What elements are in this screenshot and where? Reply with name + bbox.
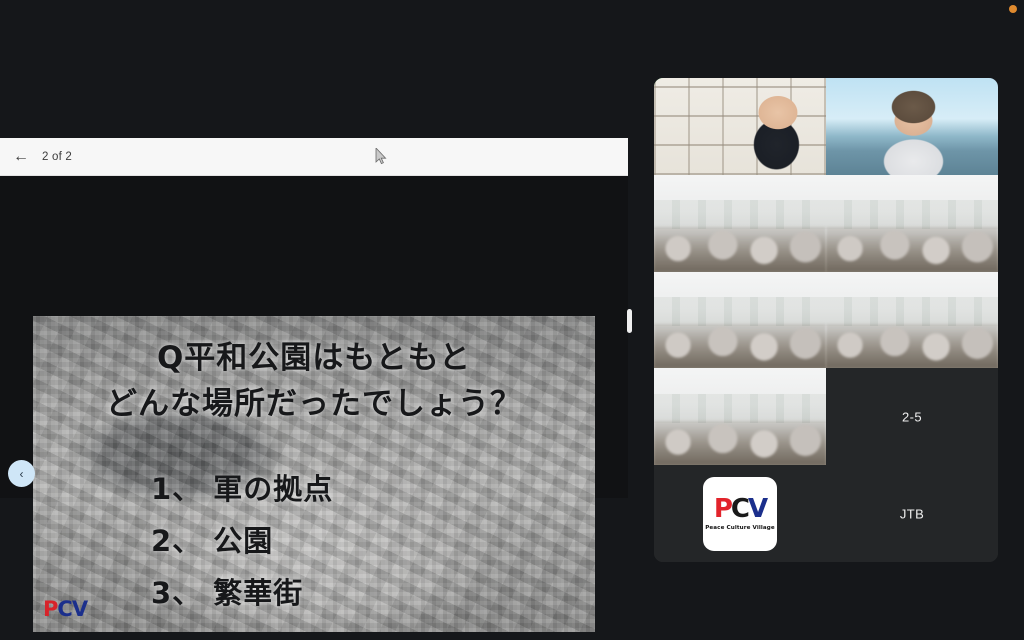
recording-indicator-dot: [1009, 5, 1017, 13]
panel-resize-handle[interactable]: [627, 309, 632, 333]
pcv-logo-letters: PCV: [714, 496, 766, 522]
watermark-letter-p: P: [43, 597, 57, 621]
slide-page-counter: 2 of 2: [42, 151, 72, 163]
slide-option-3: 3、 繁華街: [151, 570, 303, 612]
slide-question-line-1: Q平和公園はもともと: [33, 332, 595, 377]
participant-video-1: [654, 78, 826, 175]
slide-option-1: 1、 軍の拠点: [151, 466, 333, 508]
participant-name-2-5: 2-5: [826, 409, 998, 424]
slide-text-layer: Q平和公園はもともと どんな場所だったでしょう？ 1、 軍の拠点 2、 公園 3…: [33, 316, 595, 632]
meeting-window: ← 2 of 2 Q平和公園はもともと どんな場所だったでしょう？ 1、 軍の拠…: [0, 0, 1024, 640]
slide-option-2: 2、 公園: [151, 518, 273, 560]
participant-video-3: [654, 175, 826, 272]
pcv-letter-v: V: [748, 494, 766, 524]
participant-name-jtb: JTB: [826, 506, 998, 521]
watermark-letter-c: C: [57, 597, 71, 621]
participant-tile-6[interactable]: [826, 272, 998, 369]
participant-tile-8[interactable]: 2-5: [826, 368, 998, 465]
pcv-letter-p: P: [714, 494, 731, 524]
shared-screen-region: ← 2 of 2 Q平和公園はもともと どんな場所だったでしょう？ 1、 軍の拠…: [0, 138, 628, 498]
participant-tile-1[interactable]: [654, 78, 826, 175]
pcv-logo: PCV Peace Culture Village: [703, 477, 777, 551]
participant-video-5: [654, 272, 826, 369]
participant-tile-9[interactable]: PCV Peace Culture Village: [654, 465, 826, 562]
slide-question-line-2: どんな場所だったでしょう？: [33, 378, 595, 423]
pcv-logo-tagline: Peace Culture Village: [705, 525, 775, 531]
participant-tile-4[interactable]: [826, 175, 998, 272]
participant-tile-5[interactable]: [654, 272, 826, 369]
participant-tile-10[interactable]: JTB: [826, 465, 998, 562]
participants-grid: 2-5 PCV Peace Culture Village JTB: [654, 78, 998, 562]
participant-video-6: [826, 272, 998, 369]
participant-tile-7[interactable]: [654, 368, 826, 465]
participant-tile-2[interactable]: [826, 78, 998, 175]
participant-tile-3[interactable]: [654, 175, 826, 272]
previous-slide-button[interactable]: ‹: [8, 460, 35, 487]
watermark-letter-v: V: [72, 597, 87, 621]
slide-pcv-watermark: PCV: [43, 599, 87, 620]
slide-canvas[interactable]: Q平和公園はもともと どんな場所だったでしょう？ 1、 軍の拠点 2、 公園 3…: [33, 316, 595, 632]
participant-video-4: [826, 175, 998, 272]
participant-video-7: [654, 368, 826, 465]
participants-panel: 2-5 PCV Peace Culture Village JTB: [654, 78, 998, 562]
participant-video-2: [826, 78, 998, 175]
mouse-cursor-icon: [375, 148, 387, 165]
pcv-letter-c: C: [731, 494, 748, 524]
back-arrow-icon[interactable]: ←: [6, 142, 36, 172]
slide-toolbar: ← 2 of 2: [0, 138, 628, 176]
